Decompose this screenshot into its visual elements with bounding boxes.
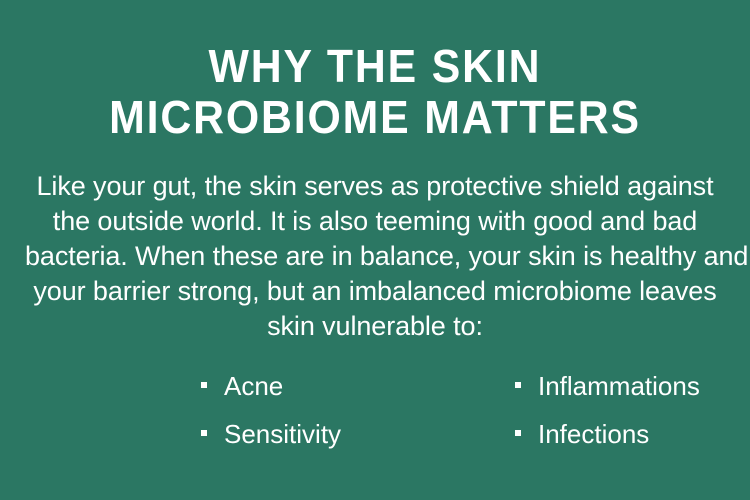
list-item: Sensitivity (201, 419, 375, 467)
list-item-label: Acne (224, 371, 283, 401)
body-paragraph-line-3: bacteria. When these are in balance, you… (25, 239, 725, 274)
square-bullet-icon (201, 382, 207, 388)
conditions-list: Acne Sensitivity Inflammations Infection… (0, 371, 750, 467)
list-item: Inflammations (515, 371, 685, 419)
body-paragraph-line-2: the outside world. It is also teeming wi… (25, 204, 725, 239)
infographic-card: WHY THE SKIN MICROBIOME MATTERS Like you… (0, 0, 750, 500)
page-title: WHY THE SKIN MICROBIOME MATTERS (26, 0, 724, 143)
body-paragraph-line-4: your barrier strong, but an imbalanced m… (25, 274, 725, 309)
square-bullet-icon (515, 382, 521, 388)
page-title-line-2: MICROBIOME MATTERS (26, 92, 724, 143)
conditions-column-left: Acne Sensitivity (65, 371, 375, 467)
list-item: Infections (515, 419, 685, 467)
square-bullet-icon (201, 430, 207, 436)
list-item: Acne (201, 371, 375, 419)
body-paragraph: Like your gut, the skin serves as protec… (25, 143, 725, 344)
square-bullet-icon (515, 430, 521, 436)
page-title-line-1: WHY THE SKIN (26, 41, 724, 92)
body-paragraph-line-5: skin vulnerable to: (25, 309, 725, 344)
list-item-label: Infections (538, 419, 649, 449)
list-item-label: Inflammations (538, 371, 700, 401)
list-item-label: Sensitivity (224, 419, 341, 449)
body-paragraph-line-1: Like your gut, the skin serves as protec… (25, 169, 725, 204)
conditions-column-right: Inflammations Infections (375, 371, 685, 467)
